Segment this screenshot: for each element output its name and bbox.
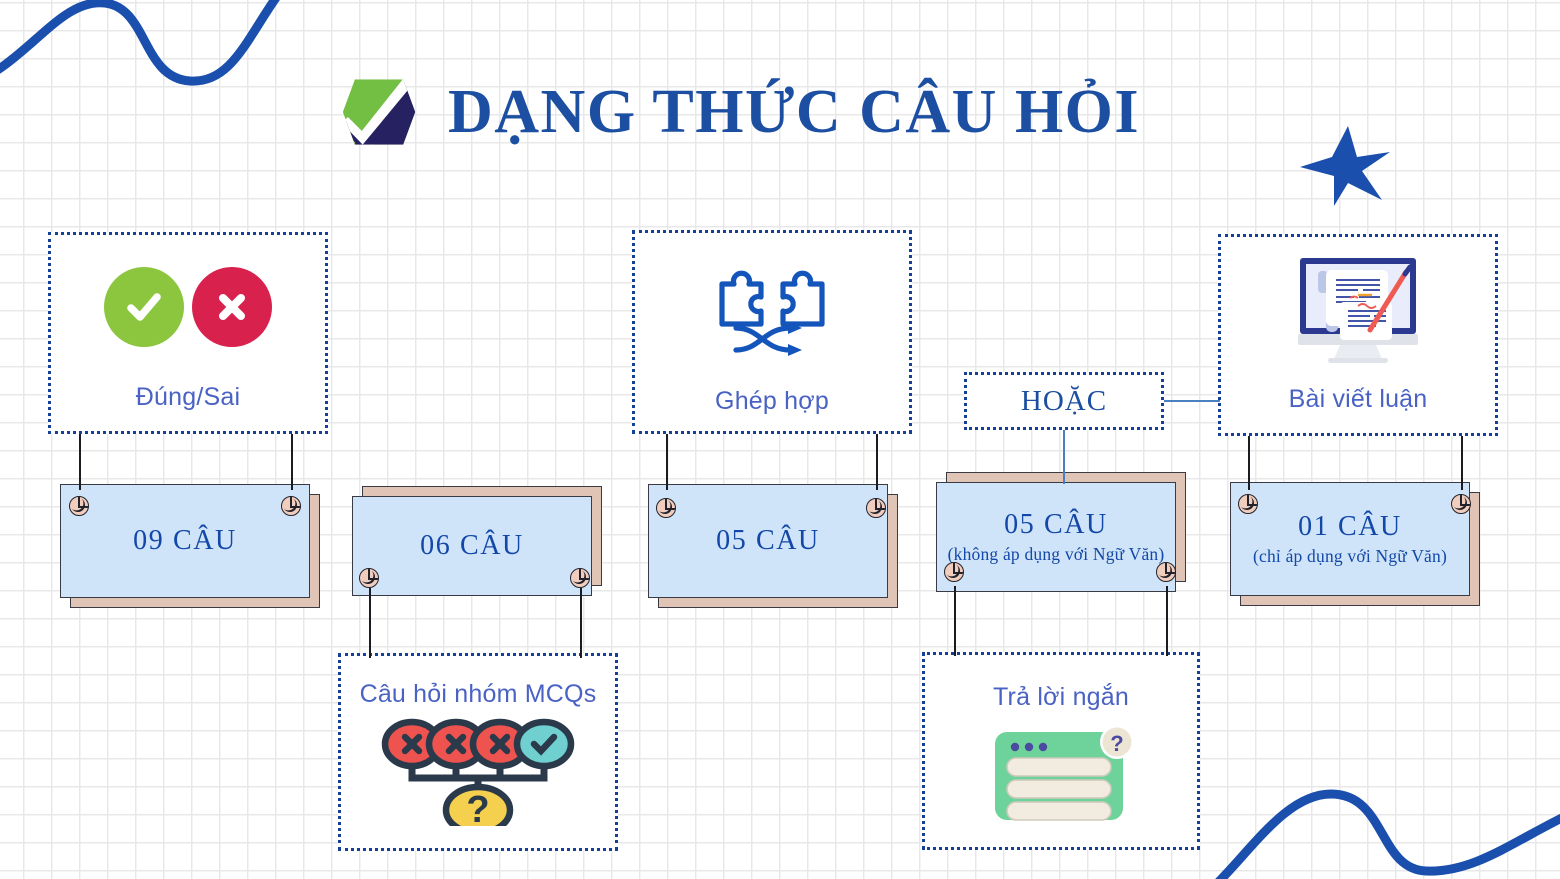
plate-06-cau[interactable]: 06 CÂU bbox=[352, 496, 592, 596]
string-short-left bbox=[954, 586, 956, 656]
pin-top-right bbox=[866, 498, 886, 518]
card-bai-viet-luan[interactable]: Bài viết luận bbox=[1218, 234, 1498, 436]
string-mcq-right bbox=[580, 588, 582, 658]
hoac-label: HOẶC bbox=[1021, 385, 1107, 418]
plate-count: 01 CÂU bbox=[1298, 511, 1402, 543]
string-truefalse-left bbox=[79, 434, 81, 490]
card-label-ghep-hop: Ghép hợp bbox=[715, 387, 829, 416]
pin-top-right bbox=[1451, 494, 1471, 514]
svg-text:?: ? bbox=[1110, 731, 1123, 756]
card-label-dung-sai: Đúng/Sai bbox=[136, 383, 240, 412]
pin-top-left bbox=[69, 496, 89, 516]
plate-01-cau-bai-viet-luan[interactable]: 01 CÂU (chỉ áp dụng với Ngữ Văn) bbox=[1230, 482, 1470, 596]
plate-face: 05 CÂU (không áp dụng với Ngữ Văn) bbox=[936, 482, 1176, 592]
string-essay-left bbox=[1248, 436, 1250, 490]
string-truefalse-right bbox=[291, 434, 293, 490]
pin-bottom-right bbox=[1156, 562, 1176, 582]
pin-bottom-left bbox=[944, 562, 964, 582]
mcq-tree-icon: ? bbox=[378, 715, 578, 825]
plate-09-cau[interactable]: 09 CÂU bbox=[60, 484, 310, 598]
page-header: DẠNG THỨC CÂU HỎI bbox=[336, 62, 1196, 162]
infographic-canvas: DẠNG THỨC CÂU HỎI Đúng/Sai bbox=[0, 0, 1560, 879]
plate-05-cau-ghep-hop[interactable]: 05 CÂU bbox=[648, 484, 888, 598]
check-cross-circles-icon bbox=[104, 259, 272, 355]
string-mcq-left bbox=[369, 588, 371, 658]
card-dung-sai[interactable]: Đúng/Sai bbox=[48, 232, 328, 434]
plate-face: 09 CÂU bbox=[60, 484, 310, 598]
card-ghep-hop[interactable]: Ghép hợp bbox=[632, 230, 912, 434]
card-label-tra-loi-ngan: Trả lời ngắn bbox=[993, 683, 1129, 712]
plate-count: 05 CÂU bbox=[716, 525, 820, 557]
card-tra-loi-ngan[interactable]: Trả lời ngắn ? bbox=[922, 652, 1200, 850]
pin-top-left bbox=[1238, 494, 1258, 514]
plate-note: (chỉ áp dụng với Ngữ Văn) bbox=[1253, 546, 1447, 567]
card-cau-hoi-nhom-mcqs[interactable]: Câu hỏi nhóm MCQs bbox=[338, 653, 618, 851]
plate-face: 01 CÂU (chỉ áp dụng với Ngữ Văn) bbox=[1230, 482, 1470, 596]
monitor-essay-icon bbox=[1278, 255, 1438, 365]
card-label-bai-viet-luan: Bài viết luận bbox=[1289, 385, 1428, 414]
blue-wave-top-left-icon bbox=[0, 0, 390, 180]
page-title: DẠNG THỨC CÂU HỎI bbox=[448, 81, 1140, 143]
plate-05-cau-tra-loi-ngan[interactable]: 05 CÂU (không áp dụng với Ngữ Văn) bbox=[936, 482, 1176, 592]
short-answer-window-icon: ? bbox=[981, 720, 1141, 826]
card-label-mcqs: Câu hỏi nhóm MCQs bbox=[360, 680, 597, 709]
string-essay-right bbox=[1461, 436, 1463, 490]
link-hoac-to-essay bbox=[1164, 400, 1220, 402]
link-hoac-to-plate bbox=[1063, 430, 1065, 484]
string-match-left bbox=[666, 434, 668, 490]
pin-top-right bbox=[281, 496, 301, 516]
blue-wave-bottom-right-icon bbox=[1196, 749, 1560, 879]
cross-circle-icon bbox=[192, 267, 272, 347]
string-match-right bbox=[876, 434, 878, 490]
hoac-connector-box[interactable]: HOẶC bbox=[964, 372, 1164, 430]
pin-bottom-right bbox=[570, 568, 590, 588]
puzzle-match-icon bbox=[702, 255, 842, 359]
pin-bottom-left bbox=[359, 568, 379, 588]
plate-count: 06 CÂU bbox=[420, 530, 524, 562]
plate-note: (không áp dụng với Ngữ Văn) bbox=[948, 544, 1165, 565]
check-circle-icon bbox=[104, 267, 184, 347]
plate-face: 06 CÂU bbox=[352, 496, 592, 596]
plate-count: 09 CÂU bbox=[133, 525, 237, 557]
blue-star-icon bbox=[1296, 124, 1392, 208]
hexagon-check-logo-icon bbox=[336, 69, 422, 155]
plate-face: 05 CÂU bbox=[648, 484, 888, 598]
pin-top-left bbox=[656, 498, 676, 518]
svg-text:?: ? bbox=[466, 789, 489, 826]
plate-count: 05 CÂU bbox=[1004, 509, 1108, 541]
string-short-right bbox=[1166, 586, 1168, 656]
